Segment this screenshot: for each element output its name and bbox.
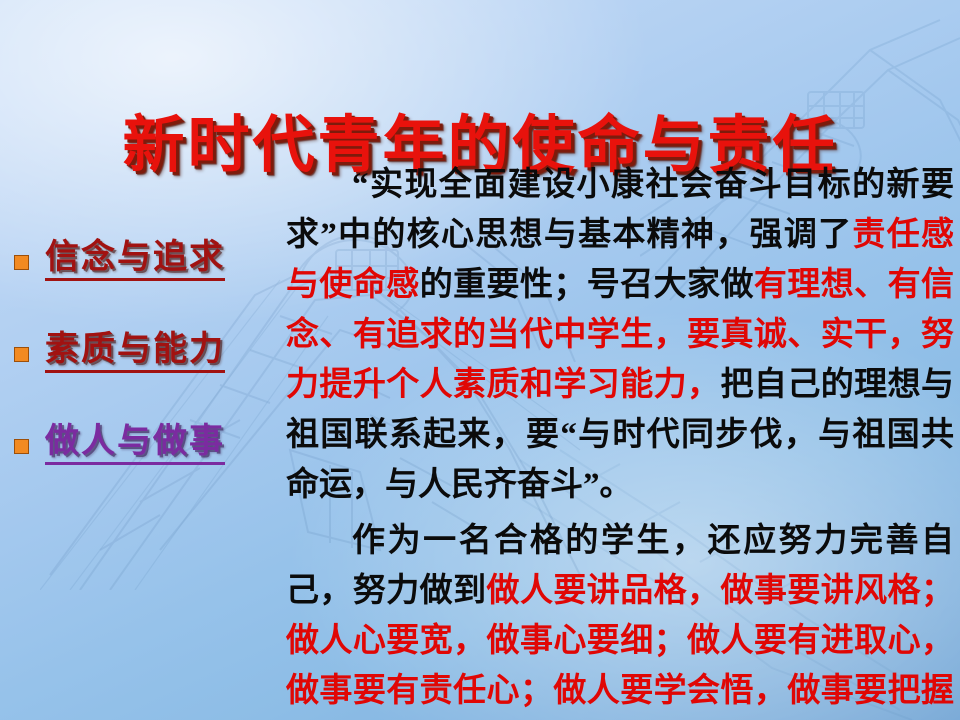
- square-bullet-icon: [14, 347, 29, 362]
- text-run: 的重要性；号召大家做: [420, 267, 754, 303]
- square-bullet-icon: [14, 439, 29, 454]
- bullet-item-label: 信念与追求: [45, 239, 225, 281]
- bullet-item-conduct-and-work[interactable]: 做人与做事: [14, 420, 282, 468]
- bullet-item-label: 素质与能力: [45, 331, 225, 373]
- bullet-item-label: 做人与做事: [45, 423, 225, 465]
- bullet-item-belief-and-pursuit[interactable]: 信念与追求: [14, 236, 282, 284]
- square-bullet-icon: [14, 255, 29, 270]
- body-paragraph: “实现全面建设小康社会奋斗目标的新要求”中的核心思想与基本精神，强调了责任感与使…: [286, 160, 954, 510]
- body-text: “实现全面建设小康社会奋斗目标的新要求”中的核心思想与基本精神，强调了责任感与使…: [286, 160, 954, 720]
- bullet-list: 信念与追求 素质与能力 做人与做事: [14, 236, 282, 512]
- bullet-item-quality-and-ability[interactable]: 素质与能力: [14, 328, 282, 376]
- presentation-slide: 新时代青年的使命与责任 信念与追求 素质与能力 做人与做事 “实现全面建设小康社…: [0, 0, 960, 720]
- body-paragraph: 作为一名合格的学生，还应努力完善自己，努力做到做人要讲品格，做事要讲风格；做人心…: [286, 516, 954, 720]
